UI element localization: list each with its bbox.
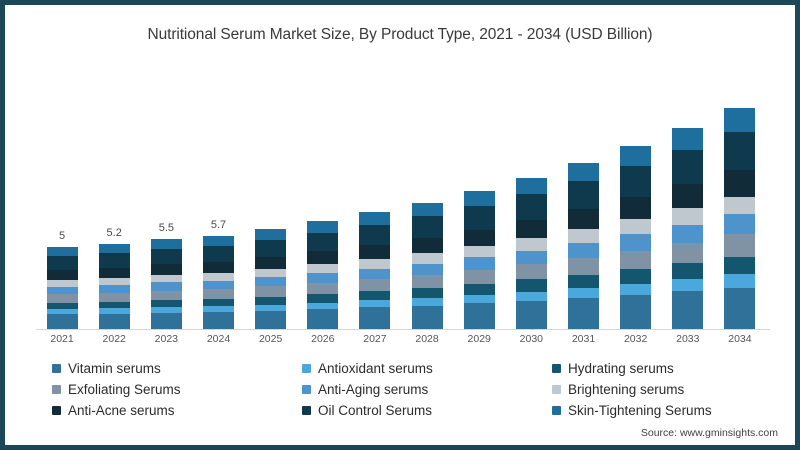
segment-anti-aging-serums[interactable] <box>203 281 234 289</box>
legend-label: Exfoliating Serums <box>68 382 181 397</box>
segment-hydrating-serums[interactable] <box>568 275 599 288</box>
segment-vitamin-serums[interactable] <box>151 313 182 330</box>
segment-brightening-serums[interactable] <box>724 197 755 215</box>
segment-skin-tightening-serums[interactable] <box>724 108 755 132</box>
legend-item-hydrating-serums[interactable]: Hydrating serums <box>552 358 752 379</box>
segment-anti-acne-serums[interactable] <box>47 270 78 280</box>
segment-vitamin-serums[interactable] <box>464 303 495 330</box>
x-tick-2025: 2025 <box>259 333 282 345</box>
segment-skin-tightening-serums[interactable] <box>464 191 495 206</box>
bar-2033[interactable] <box>672 128 703 330</box>
segment-oil-control-serums[interactable] <box>412 216 443 238</box>
segment-brightening-serums[interactable] <box>672 208 703 224</box>
segment-antioxidant-serums[interactable] <box>672 279 703 291</box>
segment-antioxidant-serums[interactable] <box>568 288 599 298</box>
bar-2021[interactable] <box>47 247 78 330</box>
segment-brightening-serums[interactable] <box>307 264 338 273</box>
legend-swatch-icon <box>302 406 311 415</box>
segment-hydrating-serums[interactable] <box>620 269 651 284</box>
segment-antioxidant-serums[interactable] <box>464 295 495 303</box>
segment-exfoliating-serums[interactable] <box>307 283 338 294</box>
segment-anti-acne-serums[interactable] <box>724 170 755 197</box>
segment-hydrating-serums[interactable] <box>203 299 234 307</box>
segment-skin-tightening-serums[interactable] <box>672 128 703 150</box>
chart-title: Nutritional Serum Market Size, By Produc… <box>0 26 800 44</box>
segment-brightening-serums[interactable] <box>568 229 599 242</box>
segment-skin-tightening-serums[interactable] <box>359 212 390 225</box>
segment-anti-acne-serums[interactable] <box>568 209 599 229</box>
x-tick-2034: 2034 <box>728 333 751 345</box>
segment-vitamin-serums[interactable] <box>724 288 755 330</box>
segment-exfoliating-serums[interactable] <box>47 294 78 302</box>
legend-swatch-icon <box>552 406 561 415</box>
segment-skin-tightening-serums[interactable] <box>516 178 547 195</box>
legend-swatch-icon <box>52 364 61 373</box>
segment-anti-acne-serums[interactable] <box>359 245 390 259</box>
legend-item-anti-aging-serums[interactable]: Anti-Aging serums <box>302 379 552 400</box>
segment-skin-tightening-serums[interactable] <box>412 203 443 217</box>
segment-brightening-serums[interactable] <box>359 259 390 268</box>
legend-label: Antioxidant serums <box>318 361 433 376</box>
segment-anti-aging-serums[interactable] <box>99 285 130 293</box>
segment-anti-acne-serums[interactable] <box>412 238 443 253</box>
segment-exfoliating-serums[interactable] <box>255 286 286 296</box>
legend-swatch-icon <box>552 364 561 373</box>
segment-oil-control-serums[interactable] <box>620 166 651 197</box>
x-tick-2033: 2033 <box>676 333 699 345</box>
segment-anti-aging-serums[interactable] <box>151 282 182 290</box>
bar-2030[interactable] <box>516 178 547 330</box>
x-axis-line <box>36 329 770 330</box>
legend-swatch-icon <box>302 364 311 373</box>
bar-2025[interactable] <box>255 229 286 330</box>
segment-anti-aging-serums[interactable] <box>620 234 651 251</box>
segment-oil-control-serums[interactable] <box>568 181 599 209</box>
segment-oil-control-serums[interactable] <box>359 225 390 245</box>
x-tick-2032: 2032 <box>624 333 647 345</box>
bar-2023[interactable] <box>151 239 182 330</box>
segment-hydrating-serums[interactable] <box>255 297 286 305</box>
segment-brightening-serums[interactable] <box>412 253 443 263</box>
segment-anti-acne-serums[interactable] <box>464 230 495 247</box>
segment-exfoliating-serums[interactable] <box>359 279 390 291</box>
segment-vitamin-serums[interactable] <box>672 291 703 330</box>
segment-anti-acne-serums[interactable] <box>620 197 651 219</box>
bar-value-label: 5 <box>59 230 65 242</box>
segment-vitamin-serums[interactable] <box>359 307 390 330</box>
segment-antioxidant-serums[interactable] <box>307 303 338 310</box>
segment-anti-aging-serums[interactable] <box>516 251 547 265</box>
segment-hydrating-serums[interactable] <box>359 291 390 300</box>
legend-item-exfoliating-serums[interactable]: Exfoliating Serums <box>52 379 302 400</box>
segment-exfoliating-serums[interactable] <box>412 275 443 288</box>
bar-2026[interactable] <box>307 221 338 330</box>
segment-oil-control-serums[interactable] <box>516 194 547 220</box>
x-tick-2024: 2024 <box>207 333 230 345</box>
segment-anti-acne-serums[interactable] <box>516 220 547 238</box>
segment-exfoliating-serums[interactable] <box>151 291 182 300</box>
segment-anti-aging-serums[interactable] <box>47 287 78 294</box>
legend-label: Brightening serums <box>568 382 684 397</box>
bar-2029[interactable] <box>464 191 495 330</box>
legend-label: Anti-Aging serums <box>318 382 428 397</box>
segment-antioxidant-serums[interactable] <box>359 300 390 307</box>
segment-vitamin-serums[interactable] <box>620 295 651 330</box>
bar-2022[interactable] <box>99 244 130 330</box>
segment-oil-control-serums[interactable] <box>724 132 755 170</box>
bar-2027[interactable] <box>359 212 390 330</box>
segment-brightening-serums[interactable] <box>203 273 234 281</box>
segment-vitamin-serums[interactable] <box>568 298 599 330</box>
segment-brightening-serums[interactable] <box>516 238 547 250</box>
segment-hydrating-serums[interactable] <box>516 279 547 291</box>
segment-exfoliating-serums[interactable] <box>672 243 703 263</box>
segment-anti-acne-serums[interactable] <box>307 251 338 264</box>
segment-vitamin-serums[interactable] <box>412 306 443 330</box>
x-tick-2029: 2029 <box>468 333 491 345</box>
x-axis-tick-labels: 2021202220232024202520262027202820292030… <box>36 333 766 353</box>
segment-anti-aging-serums[interactable] <box>464 257 495 270</box>
x-tick-2028: 2028 <box>415 333 438 345</box>
segment-oil-control-serums[interactable] <box>464 206 495 230</box>
x-tick-2027: 2027 <box>363 333 386 345</box>
segment-vitamin-serums[interactable] <box>255 311 286 330</box>
segment-oil-control-serums[interactable] <box>307 233 338 252</box>
segment-vitamin-serums[interactable] <box>307 309 338 330</box>
bar-2028[interactable] <box>412 202 443 330</box>
segment-skin-tightening-serums[interactable] <box>151 239 182 249</box>
chart-legend: Vitamin serumsAntioxidant serumsHydratin… <box>52 358 752 421</box>
segment-exfoliating-serums[interactable] <box>464 270 495 284</box>
source-attribution: Source: www.gminsights.com <box>641 427 778 439</box>
segment-skin-tightening-serums[interactable] <box>255 229 286 240</box>
segment-anti-aging-serums[interactable] <box>568 243 599 258</box>
bar-2031[interactable] <box>568 163 599 330</box>
segment-hydrating-serums[interactable] <box>99 302 130 309</box>
legend-label: Hydrating serums <box>568 361 674 376</box>
segment-anti-aging-serums[interactable] <box>412 264 443 275</box>
x-tick-2022: 2022 <box>103 333 126 345</box>
legend-swatch-icon <box>52 406 61 415</box>
segment-hydrating-serums[interactable] <box>47 303 78 310</box>
segment-hydrating-serums[interactable] <box>464 284 495 295</box>
segment-antioxidant-serums[interactable] <box>620 284 651 295</box>
segment-vitamin-serums[interactable] <box>203 312 234 330</box>
segment-hydrating-serums[interactable] <box>412 288 443 298</box>
segment-brightening-serums[interactable] <box>151 275 182 282</box>
legend-swatch-icon <box>52 385 61 394</box>
bar-value-label: 5.7 <box>211 219 226 231</box>
legend-item-skin-tightening-serums[interactable]: Skin-Tightening Serums <box>552 400 752 421</box>
segment-skin-tightening-serums[interactable] <box>620 146 651 166</box>
segment-antioxidant-serums[interactable] <box>516 292 547 301</box>
segment-anti-acne-serums[interactable] <box>151 264 182 275</box>
segment-hydrating-serums[interactable] <box>151 300 182 307</box>
segment-anti-aging-serums[interactable] <box>255 277 286 286</box>
plot-area: 55.25.55.7 <box>36 60 766 330</box>
segment-anti-acne-serums[interactable] <box>203 262 234 273</box>
segment-vitamin-serums[interactable] <box>516 301 547 330</box>
segment-exfoliating-serums[interactable] <box>203 289 234 298</box>
segment-exfoliating-serums[interactable] <box>99 293 130 302</box>
segment-brightening-serums[interactable] <box>620 219 651 234</box>
segment-brightening-serums[interactable] <box>47 280 78 287</box>
segment-vitamin-serums[interactable] <box>47 314 78 330</box>
segment-oil-control-serums[interactable] <box>672 150 703 184</box>
bar-value-label: 5.5 <box>159 222 174 234</box>
segment-hydrating-serums[interactable] <box>307 294 338 303</box>
segment-anti-aging-serums[interactable] <box>724 214 755 234</box>
segment-skin-tightening-serums[interactable] <box>203 236 234 246</box>
segment-antioxidant-serums[interactable] <box>724 274 755 287</box>
segment-anti-acne-serums[interactable] <box>255 257 286 269</box>
segment-hydrating-serums[interactable] <box>672 263 703 279</box>
segment-antioxidant-serums[interactable] <box>412 298 443 306</box>
legend-label: Oil Control Serums <box>318 403 432 418</box>
segment-oil-control-serums[interactable] <box>99 253 130 268</box>
segment-exfoliating-serums[interactable] <box>620 251 651 269</box>
segment-anti-acne-serums[interactable] <box>672 184 703 208</box>
legend-item-anti-acne-serums[interactable]: Anti-Acne serums <box>52 400 302 421</box>
x-tick-2030: 2030 <box>520 333 543 345</box>
segment-oil-control-serums[interactable] <box>255 240 286 257</box>
legend-label: Anti-Acne serums <box>68 403 175 418</box>
legend-item-antioxidant-serums[interactable]: Antioxidant serums <box>302 358 552 379</box>
segment-exfoliating-serums[interactable] <box>568 258 599 275</box>
segment-vitamin-serums[interactable] <box>99 314 130 330</box>
x-tick-2031: 2031 <box>572 333 595 345</box>
segment-anti-aging-serums[interactable] <box>672 225 703 243</box>
legend-label: Vitamin serums <box>68 361 161 376</box>
segment-anti-aging-serums[interactable] <box>307 273 338 283</box>
segment-oil-control-serums[interactable] <box>151 249 182 265</box>
segment-skin-tightening-serums[interactable] <box>99 244 130 253</box>
legend-item-brightening-serums[interactable]: Brightening serums <box>552 379 752 400</box>
legend-swatch-icon <box>552 385 561 394</box>
bar-value-label: 5.2 <box>107 227 122 239</box>
chart-figure: Nutritional Serum Market Size, By Produc… <box>0 0 800 450</box>
legend-item-oil-control-serums[interactable]: Oil Control Serums <box>302 400 552 421</box>
bar-2034[interactable] <box>724 108 755 330</box>
x-tick-2023: 2023 <box>155 333 178 345</box>
segment-brightening-serums[interactable] <box>255 269 286 277</box>
legend-item-vitamin-serums[interactable]: Vitamin serums <box>52 358 302 379</box>
legend-swatch-icon <box>302 385 311 394</box>
segment-exfoliating-serums[interactable] <box>516 264 547 279</box>
segment-oil-control-serums[interactable] <box>47 256 78 270</box>
segment-skin-tightening-serums[interactable] <box>307 221 338 233</box>
x-tick-2021: 2021 <box>50 333 73 345</box>
segment-skin-tightening-serums[interactable] <box>568 163 599 181</box>
segment-brightening-serums[interactable] <box>99 278 130 285</box>
segment-anti-acne-serums[interactable] <box>99 268 130 278</box>
x-tick-2026: 2026 <box>311 333 334 345</box>
segment-exfoliating-serums[interactable] <box>724 234 755 256</box>
legend-label: Skin-Tightening Serums <box>568 403 712 418</box>
segment-brightening-serums[interactable] <box>464 246 495 257</box>
segment-skin-tightening-serums[interactable] <box>47 247 78 256</box>
segment-oil-control-serums[interactable] <box>203 246 234 262</box>
segment-anti-aging-serums[interactable] <box>359 269 390 280</box>
segment-hydrating-serums[interactable] <box>724 257 755 275</box>
bar-2024[interactable] <box>203 236 234 330</box>
bar-2032[interactable] <box>620 146 651 330</box>
